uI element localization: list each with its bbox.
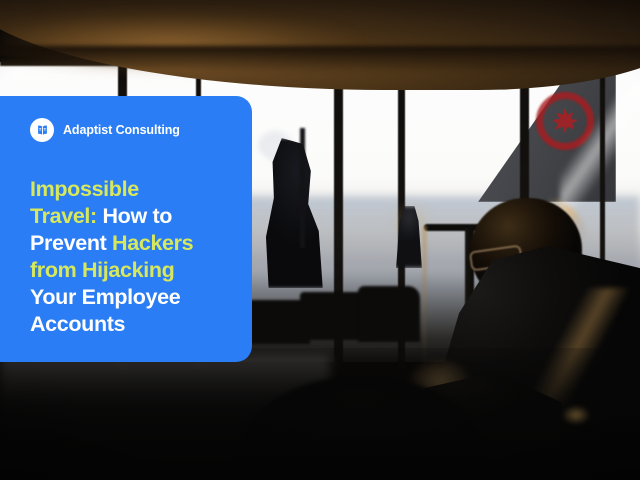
headline-card: Adaptist Consulting Impossible Travel: H…	[0, 96, 252, 362]
headline-segment: from Hijacking	[30, 258, 174, 282]
headline-segment: Travel:	[30, 204, 97, 228]
headline-segment: Impossible	[30, 177, 139, 201]
headline-line: Your Employee	[30, 284, 226, 311]
headline-line: from Hijacking	[30, 257, 226, 284]
brand-name: Adaptist Consulting	[63, 123, 180, 137]
headline-line: Prevent Hackers	[30, 230, 226, 257]
headline-segment: Prevent	[30, 231, 106, 255]
brand-lockup[interactable]: Adaptist Consulting	[30, 118, 226, 142]
headline-segment: Your Employee	[30, 285, 180, 309]
open-book-logo-icon	[30, 118, 54, 142]
headline-segment: Accounts	[30, 312, 125, 336]
graphic-canvas: Adaptist Consulting Impossible Travel: H…	[0, 0, 640, 480]
headline-segment: How to	[97, 204, 172, 228]
headline-line: Accounts	[30, 311, 226, 338]
headline: Impossible Travel: How to Prevent Hacker…	[30, 176, 226, 338]
headline-line: Impossible	[30, 176, 226, 203]
headline-line: Travel: How to	[30, 203, 226, 230]
headline-segment: Hackers	[106, 231, 193, 255]
